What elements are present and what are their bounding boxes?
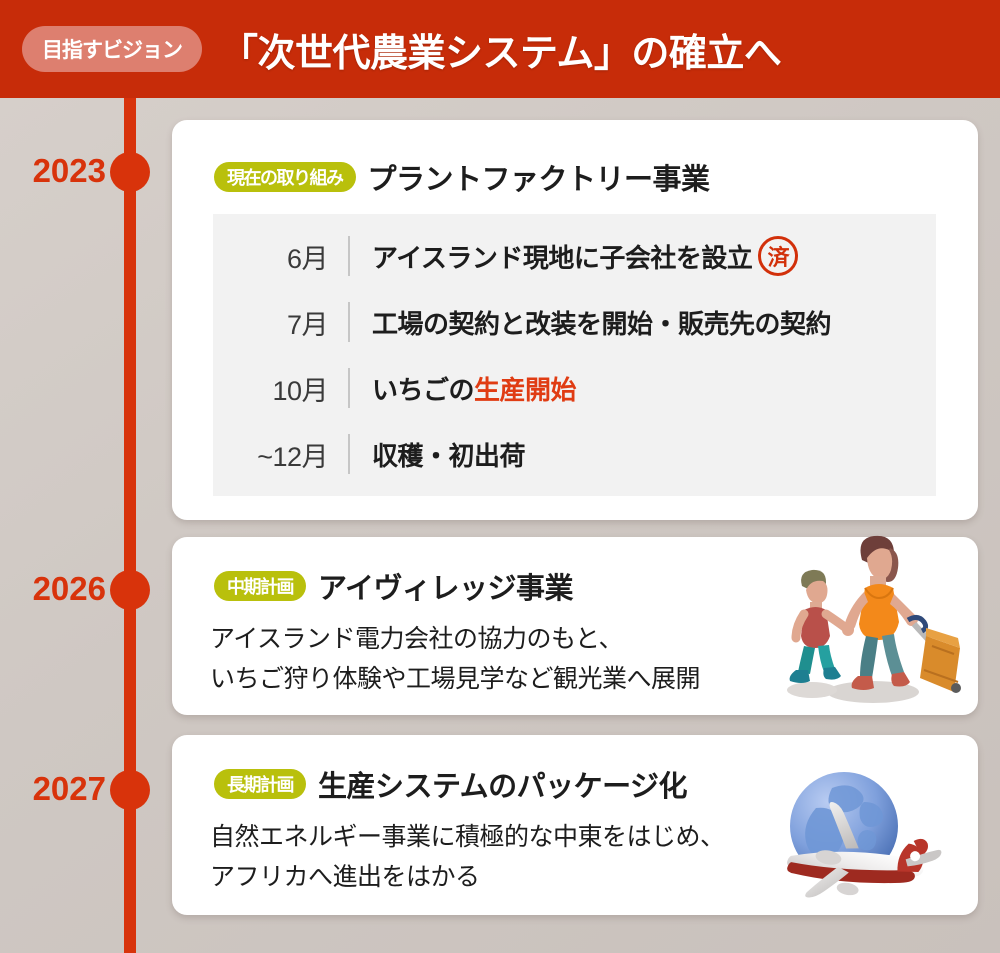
plan-tag-midterm: 中期計画 — [214, 571, 306, 601]
family-traveler-icon — [766, 520, 978, 720]
infographic-page: 目指すビジョン 「次世代農業システム」の確立へ 2023 2026 2027 現… — [0, 0, 1000, 953]
card-title: アイヴィレッジ事業 — [318, 565, 573, 607]
milestone-table: 6月 アイスランド現地に子会社を設立 済 7月 工場の契約と改装を開始・販売先の… — [213, 214, 936, 496]
table-row: ~12月 収穫・初出荷 — [213, 421, 936, 487]
card-title: 生産システムのパッケージ化 — [318, 763, 687, 805]
timeline-card-2023[interactable]: 現在の取り組み プラントファクトリー事業 6月 アイスランド現地に子会社を設立 … — [172, 120, 978, 520]
milestone-month: 7月 — [213, 303, 348, 342]
year-label: 2026 — [33, 570, 106, 608]
table-row: 7月 工場の契約と改装を開始・販売先の契約 — [213, 289, 936, 355]
milestone-task: いちごの生産開始 — [350, 370, 576, 407]
milestone-task-text: アイスランド現地に子会社を設立 — [372, 238, 752, 275]
milestone-task: アイスランド現地に子会社を設立 済 — [350, 236, 798, 276]
table-row: 6月 アイスランド現地に子会社を設立 済 — [213, 223, 936, 289]
completed-stamp-icon: 済 — [758, 236, 798, 276]
milestone-month: 6月 — [213, 237, 348, 276]
card-title: プラントファクトリー事業 — [368, 156, 710, 198]
year-label: 2023 — [33, 152, 106, 190]
globe-airplane-illustration — [772, 768, 978, 908]
milestone-task-text: 工場の契約と改装を開始・販売先の契約 — [372, 304, 831, 341]
timeline-spine — [124, 98, 136, 953]
milestone-task-text: 収穫・初出荷 — [372, 436, 525, 473]
plan-tag-longterm: 長期計画 — [214, 769, 306, 799]
plan-tag-current: 現在の取り組み — [214, 162, 356, 192]
page-title: 「次世代農業システム」の確立へ — [220, 22, 781, 77]
vision-badge: 目指すビジョン — [22, 26, 202, 72]
family-traveler-illustration — [766, 520, 978, 720]
vision-badge-label: 目指すビジョン — [42, 34, 182, 64]
timeline-dot-2023 — [110, 152, 150, 192]
milestone-task: 収穫・初出荷 — [350, 436, 525, 473]
timeline-dot-2027 — [110, 770, 150, 810]
table-row: 10月 いちごの生産開始 — [213, 355, 936, 421]
milestone-task: 工場の契約と改装を開始・販売先の契約 — [350, 304, 831, 341]
header-banner: 目指すビジョン 「次世代農業システム」の確立へ — [0, 0, 1000, 98]
milestone-task-text: いちごの — [372, 370, 474, 407]
milestone-month: ~12月 — [213, 435, 348, 474]
timeline-dot-2026 — [110, 570, 150, 610]
milestone-month: 10月 — [213, 369, 348, 408]
globe-airplane-icon — [772, 768, 978, 908]
milestone-task-highlight: 生産開始 — [474, 370, 576, 407]
year-label: 2027 — [33, 770, 106, 808]
